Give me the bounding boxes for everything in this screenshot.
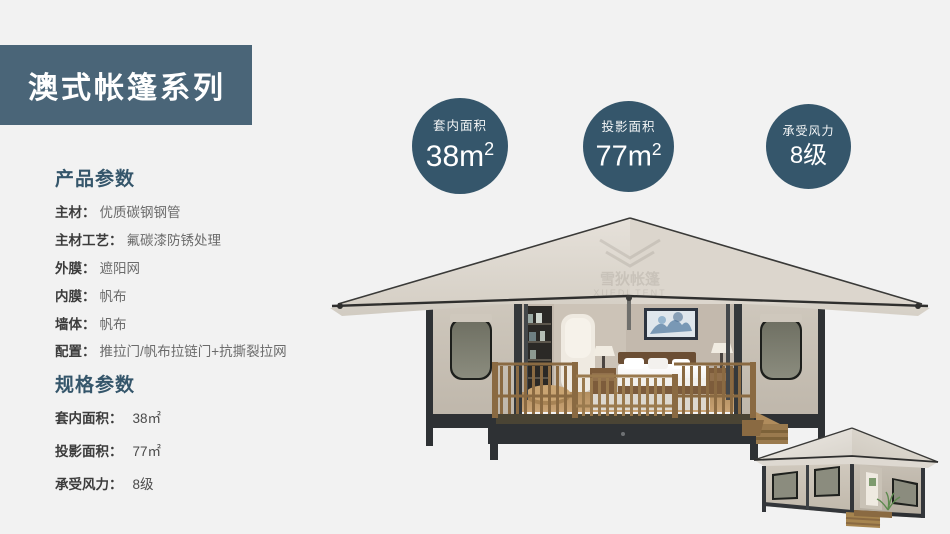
- spec-parameters-heading: 规格参数: [55, 370, 355, 397]
- spec-value: 8级: [133, 477, 154, 494]
- stat-badge-value: 38m2: [426, 140, 494, 172]
- page-title: 澳式帐篷系列: [28, 63, 226, 107]
- param-key: 主材工艺：: [55, 233, 123, 250]
- param-key: 墙体：: [55, 317, 96, 334]
- spec-row: 承受风力： 8级: [55, 477, 355, 494]
- param-row: 外膜： 遮阳网: [55, 261, 355, 278]
- param-key: 配置：: [55, 344, 96, 361]
- spec-key: 套内面积：: [55, 411, 123, 428]
- stat-badge-projected-area: 投影面积 77m2: [583, 101, 674, 192]
- param-row: 配置： 推拉门/帆布拉链门+抗撕裂拉网: [55, 344, 355, 361]
- watermark-en-text: XUEDI TENT: [593, 288, 666, 298]
- product-parameters-heading: 产品参数: [55, 164, 355, 191]
- param-value: 帆布: [100, 317, 127, 334]
- thumb-window: [772, 471, 798, 500]
- param-key: 外膜：: [55, 261, 96, 278]
- stat-badge-value: 77m2: [595, 141, 661, 172]
- thumb-deck-fragment: [742, 420, 764, 436]
- param-value: 帆布: [100, 289, 127, 306]
- title-banner: 澳式帐篷系列: [0, 45, 252, 125]
- param-value: 推拉门/帆布拉链门+抗撕裂拉网: [100, 344, 287, 361]
- nightstand-left: [590, 346, 616, 394]
- spec-parameters-section: 规格参数 套内面积： 38㎡ 投影面积： 77㎡ 承受风力： 8级: [55, 370, 355, 510]
- thumb-roof: [754, 428, 938, 468]
- stat-badge-interior-area: 套内面积 38m2: [412, 98, 508, 194]
- watermark-cn-text: 雪狄帐篷: [600, 270, 661, 288]
- spec-key: 承受风力：: [55, 477, 123, 494]
- param-value: 遮阳网: [100, 261, 141, 278]
- stat-badge-label: 套内面积: [433, 120, 487, 133]
- param-key: 内膜：: [55, 289, 96, 306]
- window-left: [450, 314, 492, 380]
- param-key: 主材：: [55, 205, 96, 222]
- stat-badge-label: 承受风力: [782, 125, 834, 137]
- param-row: 主材： 优质碳钢钢管: [55, 205, 355, 222]
- tent-perspective-illustration: [742, 414, 950, 534]
- stat-badge-value: 8级: [790, 144, 827, 168]
- param-row: 内膜： 帆布: [55, 289, 355, 306]
- thumb-entry-steps: [846, 510, 892, 528]
- slide-canvas: 澳式帐篷系列 产品参数 主材： 优质碳钢钢管 主材工艺： 氟碳漆防锈处理 外膜：…: [0, 0, 950, 534]
- param-row: 墙体： 帆布: [55, 317, 355, 334]
- spec-value: 38㎡: [133, 411, 162, 428]
- stat-badge-label: 投影面积: [601, 121, 655, 134]
- thumb-window: [814, 466, 840, 497]
- spec-key: 投影面积：: [55, 444, 123, 461]
- product-parameters-section: 产品参数 主材： 优质碳钢钢管 主材工艺： 氟碳漆防锈处理 外膜： 遮阳网 内膜…: [55, 164, 355, 372]
- spec-row: 投影面积： 77㎡: [55, 444, 355, 461]
- tent-thumbnail-image: [742, 414, 950, 534]
- param-value: 优质碳钢钢管: [100, 205, 181, 222]
- param-value: 氟碳漆防锈处理: [127, 233, 222, 250]
- spec-value: 77㎡: [133, 444, 162, 461]
- stat-badge-wind-resistance: 承受风力 8级: [766, 104, 851, 189]
- thumb-window: [892, 478, 918, 507]
- window-right: [760, 314, 802, 380]
- param-row: 主材工艺： 氟碳漆防锈处理: [55, 233, 355, 250]
- spec-row: 套内面积： 38㎡: [55, 411, 355, 428]
